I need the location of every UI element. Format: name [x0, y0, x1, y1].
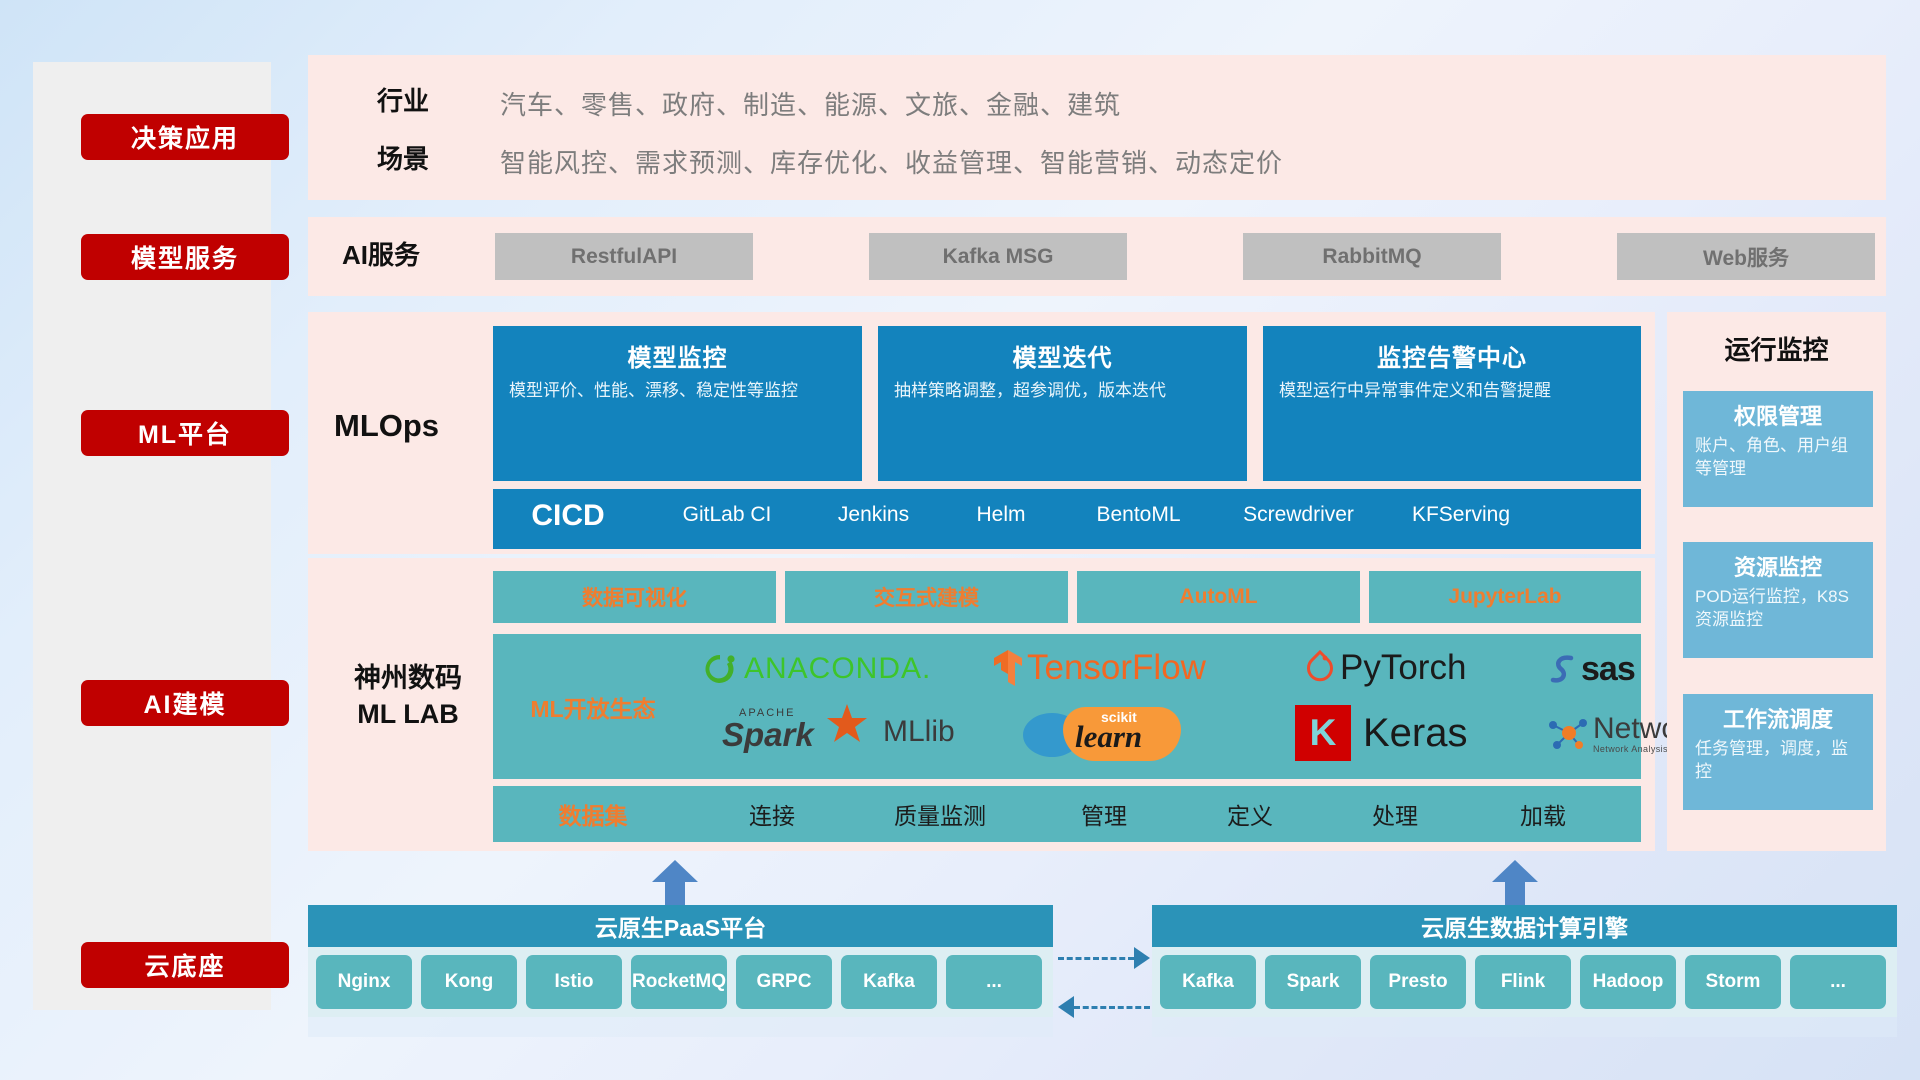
monitoring-card-permission[interactable]: 权限管理 账户、角色、用户组等管理 [1683, 391, 1873, 507]
engine-chip-spark[interactable]: Spark [1265, 955, 1361, 1009]
dataset-item-connect[interactable]: 连接 [693, 797, 851, 831]
mllab-label: 神州数码 ML LAB [328, 660, 488, 733]
rail-tag-ai-modeling[interactable]: AI建模 [81, 680, 289, 726]
tool-tab-jupyterlab[interactable]: JupyterLab [1369, 571, 1641, 623]
runtime-monitoring-panel: 运行监控 权限管理 账户、角色、用户组等管理 资源监控 POD运行监控，K8S资… [1667, 312, 1886, 851]
dataset-item-load[interactable]: 加载 [1469, 797, 1617, 831]
tensorflow-wordmark: TensorFlow [1027, 648, 1206, 688]
ai-modeling-panel: 神州数码 ML LAB 数据可视化 交互式建模 AutoML JupyterLa… [308, 558, 1655, 851]
cicd-item-jenkins[interactable]: Jenkins [811, 489, 936, 527]
card-title: 权限管理 [1695, 399, 1861, 431]
card-desc: 模型运行中异常事件定义和告警提醒 [1279, 379, 1625, 402]
paas-chip-kafka[interactable]: Kafka [841, 955, 937, 1009]
monitoring-card-workflow[interactable]: 工作流调度 任务管理，调度，监控 [1683, 694, 1873, 810]
mlops-card-model-monitor[interactable]: 模型监控 模型评价、性能、漂移、稳定性等监控 [493, 326, 862, 481]
keras-mark: K [1310, 712, 1337, 754]
tensorflow-logo: TensorFlow [993, 646, 1206, 690]
mllib-wordmark: MLlib [883, 715, 955, 749]
data-engine-title: 云原生数据计算引擎 [1152, 905, 1897, 947]
connector-arrow-left [1058, 996, 1150, 1018]
ml-ecosystem-label: ML开放生态 [493, 690, 693, 724]
pytorch-wordmark: PyTorch [1340, 648, 1466, 688]
arrow-up-paas-icon [652, 860, 698, 908]
card-desc: 账户、角色、用户组等管理 [1695, 435, 1861, 481]
scenario-value: 智能风控、需求预测、库存优化、收益管理、智能营销、动态定价 [500, 143, 1283, 180]
mlops-card-alert-center[interactable]: 监控告警中心 模型运行中异常事件定义和告警提醒 [1263, 326, 1641, 481]
rail-tag-ml-platform[interactable]: ML平台 [81, 410, 289, 456]
anaconda-logo: ANACONDA. [703, 648, 931, 690]
keras-logo: K Keras [1295, 704, 1468, 762]
dataset-label: 数据集 [493, 797, 693, 831]
cicd-item-bentoml[interactable]: BentoML [1066, 489, 1211, 527]
engine-chip-flink[interactable]: Flink [1475, 955, 1571, 1009]
mllab-label-line2: ML LAB [328, 696, 488, 732]
pytorch-logo: PyTorch [1305, 646, 1466, 690]
cloud-native-paas-block: 云原生PaaS平台 Nginx Kong Istio RocketMQ GRPC… [308, 905, 1053, 1037]
connector-arrow-right [1058, 947, 1150, 969]
paas-chip-nginx[interactable]: Nginx [316, 955, 412, 1009]
paas-chip-grpc[interactable]: GRPC [736, 955, 832, 1009]
engine-chip-hadoop[interactable]: Hadoop [1580, 955, 1676, 1009]
paas-chip-istio[interactable]: Istio [526, 955, 622, 1009]
ai-service-chip-rabbitmq[interactable]: RabbitMQ [1243, 233, 1501, 280]
card-desc: 任务管理，调度，监控 [1695, 738, 1861, 784]
engine-chip-storm[interactable]: Storm [1685, 955, 1781, 1009]
tool-tab-interactive-modeling[interactable]: 交互式建模 [785, 571, 1068, 623]
cicd-item-kfserving[interactable]: KFServing [1386, 489, 1536, 527]
engine-chip-more[interactable]: ... [1790, 955, 1886, 1009]
rail-tag-model-service[interactable]: 模型服务 [81, 234, 289, 280]
card-desc: 模型评价、性能、漂移、稳定性等监控 [509, 379, 846, 402]
ml-ecosystem-band: ML开放生态 ANACONDA. TensorFlow [493, 634, 1641, 779]
sas-wordmark: sas [1581, 650, 1635, 689]
card-title: 资源监控 [1695, 550, 1861, 582]
ai-service-panel: AI服务 RestfulAPI Kafka MSG RabbitMQ Web服务 [308, 217, 1886, 296]
card-title: 监控告警中心 [1377, 338, 1527, 373]
data-engine-chip-list: Kafka Spark Presto Flink Hadoop Storm ..… [1152, 947, 1897, 1017]
card-title: 工作流调度 [1695, 702, 1861, 734]
paas-chip-more[interactable]: ... [946, 955, 1042, 1009]
card-desc: POD运行监控，K8S资源监控 [1695, 586, 1861, 632]
cicd-item-screwdriver[interactable]: Screwdriver [1211, 489, 1386, 527]
dataset-item-manage[interactable]: 管理 [1029, 797, 1179, 831]
spark-mllib-logo: APACHE Spark MLlib [717, 706, 955, 758]
scenario-label: 场景 [348, 141, 458, 179]
dataset-item-define[interactable]: 定义 [1179, 797, 1321, 831]
mllab-label-line1: 神州数码 [328, 660, 488, 696]
industry-label: 行业 [348, 83, 458, 121]
keras-wordmark: Keras [1363, 711, 1468, 756]
dataset-item-quality[interactable]: 质量监测 [851, 797, 1029, 831]
scikit-learn-logo: scikit learn [1023, 708, 1219, 760]
engine-chip-presto[interactable]: Presto [1370, 955, 1466, 1009]
dataset-bar: 数据集 连接 质量监测 管理 定义 处理 加载 [493, 786, 1641, 842]
monitoring-card-resource[interactable]: 资源监控 POD运行监控，K8S资源监控 [1683, 542, 1873, 658]
industry-value: 汽车、零售、政府、制造、能源、文旅、金融、建筑 [500, 85, 1121, 122]
paas-chip-kong[interactable]: Kong [421, 955, 517, 1009]
arrow-up-data-engine-icon [1492, 860, 1538, 908]
cicd-item-gitlab-ci[interactable]: GitLab CI [643, 489, 811, 527]
ai-service-chip-web-service[interactable]: Web服务 [1617, 233, 1875, 280]
card-title: 模型迭代 [1013, 338, 1113, 373]
tool-tab-automl[interactable]: AutoML [1077, 571, 1360, 623]
cicd-bar: CICD GitLab CI Jenkins Helm BentoML Scre… [493, 489, 1641, 549]
cicd-item-helm[interactable]: Helm [936, 489, 1066, 527]
spark-wordmark: Spark [722, 716, 814, 754]
paas-chip-list: Nginx Kong Istio RocketMQ GRPC Kafka ... [308, 947, 1053, 1017]
cicd-label: CICD [493, 489, 643, 533]
card-title: 模型监控 [628, 338, 728, 373]
dataset-item-process[interactable]: 处理 [1321, 797, 1469, 831]
card-desc: 抽样策略调整，超参调优，版本迭代 [894, 379, 1231, 402]
ai-service-chip-kafka-msg[interactable]: Kafka MSG [869, 233, 1127, 280]
layer-rail: 决策应用 模型服务 ML平台 AI建模 云底座 [33, 62, 271, 1010]
tool-tab-data-visualization[interactable]: 数据可视化 [493, 571, 776, 623]
paas-chip-rocketmq[interactable]: RocketMQ [631, 955, 727, 1009]
anaconda-wordmark: ANACONDA. [744, 652, 931, 686]
ai-service-chip-restfulapi[interactable]: RestfulAPI [495, 233, 753, 280]
rail-tag-cloud-base[interactable]: 云底座 [81, 942, 289, 988]
rail-tag-decision[interactable]: 决策应用 [81, 114, 289, 160]
mlops-card-model-iteration[interactable]: 模型迭代 抽样策略调整，超参调优，版本迭代 [878, 326, 1247, 481]
monitoring-title: 运行监控 [1667, 330, 1886, 367]
ai-service-label: AI服务 [342, 237, 420, 275]
learn-text: learn [1075, 719, 1142, 755]
paas-title: 云原生PaaS平台 [308, 905, 1053, 947]
mlops-label: MLOps [334, 404, 439, 449]
sas-logo: sas [1549, 648, 1635, 690]
engine-chip-kafka[interactable]: Kafka [1160, 955, 1256, 1009]
architecture-diagram: 决策应用 模型服务 ML平台 AI建模 云底座 行业 汽车、零售、政府、制造、能… [0, 0, 1920, 1080]
decision-application-panel: 行业 汽车、零售、政府、制造、能源、文旅、金融、建筑 场景 智能风控、需求预测、… [308, 55, 1886, 200]
cloud-native-data-engine-block: 云原生数据计算引擎 Kafka Spark Presto Flink Hadoo… [1152, 905, 1897, 1037]
ml-platform-panel: MLOps 模型监控 模型评价、性能、漂移、稳定性等监控 模型迭代 抽样策略调整… [308, 312, 1655, 554]
